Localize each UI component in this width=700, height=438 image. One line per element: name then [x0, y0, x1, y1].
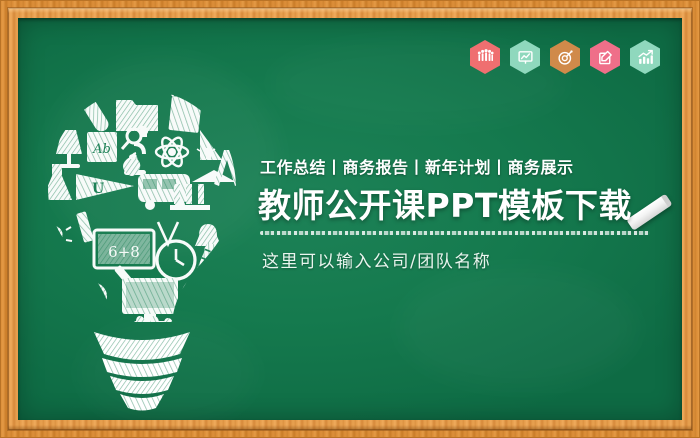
svg-text:Ab: Ab — [92, 142, 111, 157]
growth-chart-icon[interactable] — [630, 40, 660, 74]
group-people-icon[interactable] — [470, 40, 500, 74]
edit-document-icon[interactable] — [590, 40, 620, 74]
presentation-chart-icon[interactable] — [510, 40, 540, 74]
svg-text:6+8: 6+8 — [108, 243, 140, 261]
svg-text:U: U — [92, 181, 104, 197]
slide-canvas: Ab — [0, 0, 700, 438]
page-title: 教师公开课PPT模板下载 — [258, 187, 678, 225]
frame-shadow-bottom — [8, 425, 692, 430]
chalk-underline — [260, 231, 650, 235]
tagline-text: 工作总结丨商务报告丨新年计划丨商务展示 — [260, 158, 678, 177]
title-block: 工作总结丨商务报告丨新年计划丨商务展示 教师公开课PPT模板下载 这里可以输入公… — [258, 158, 678, 272]
subtitle-text: 这里可以输入公司/团队名称 — [262, 247, 678, 272]
frame-highlight-top — [8, 8, 692, 13]
chalk-dust-smudge — [398, 268, 638, 388]
lightbulb-education-collage: Ab — [32, 82, 252, 412]
target-idea-icon[interactable] — [550, 40, 580, 74]
chalkboard-surface: Ab — [18, 18, 682, 420]
topbar-icon-row — [470, 40, 660, 74]
